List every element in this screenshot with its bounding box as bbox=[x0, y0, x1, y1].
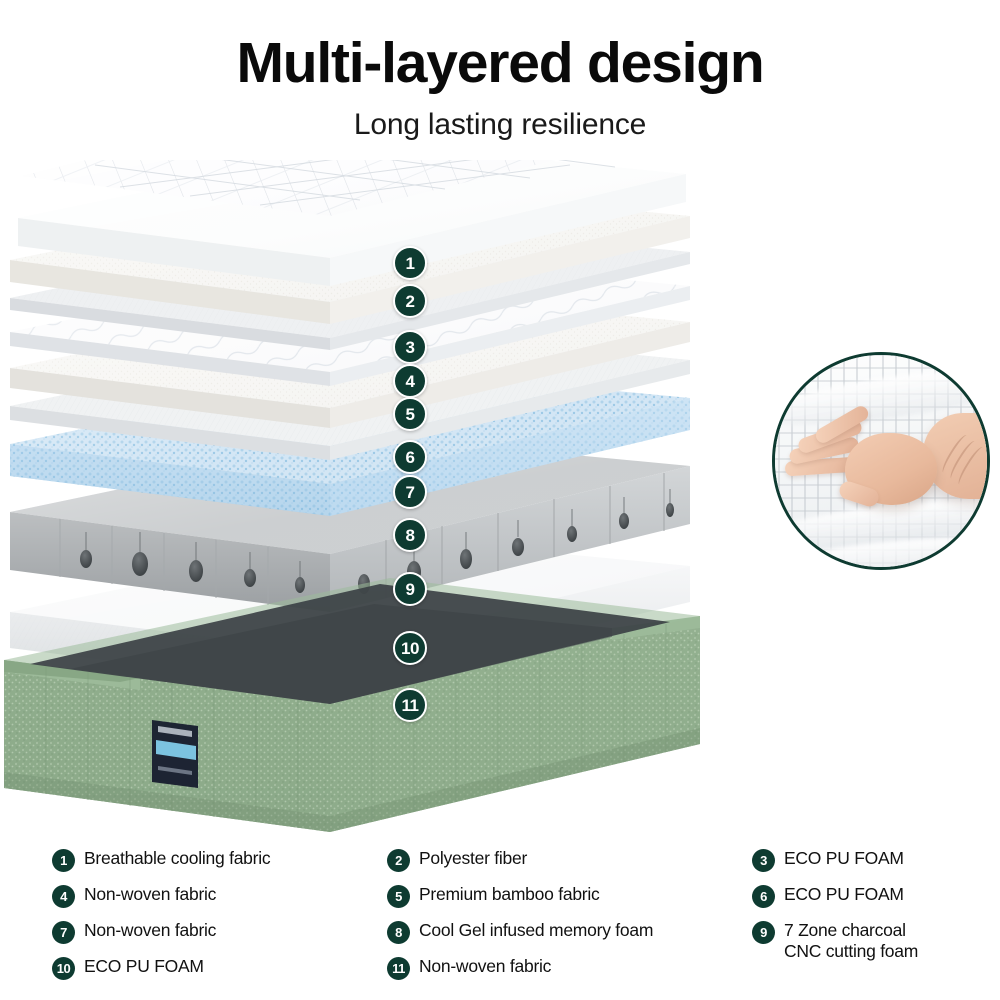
legend-column-3: 3 ECO PU FOAM 6 ECO PU FOAM 9 7 Zone cha… bbox=[752, 848, 972, 974]
legend-label-8: Cool Gel infused memory foam bbox=[419, 920, 653, 941]
product-infographic: Multi-layered design Long lasting resili… bbox=[0, 0, 1000, 1000]
legend-badge-3: 3 bbox=[752, 849, 775, 872]
inset-photo-hand-on-mattress bbox=[772, 352, 990, 570]
callout-badge-7[interactable]: 7 bbox=[393, 475, 427, 509]
legend-badge-2: 2 bbox=[387, 849, 410, 872]
legend-badge-8: 8 bbox=[387, 921, 410, 944]
legend-label-6: ECO PU FOAM bbox=[784, 884, 904, 905]
legend: 1 Breathable cooling fabric 4 Non-woven … bbox=[52, 848, 970, 988]
legend-label-5: Premium bamboo fabric bbox=[419, 884, 600, 905]
legend-label-4: Non-woven fabric bbox=[84, 884, 216, 905]
callout-badge-2[interactable]: 2 bbox=[393, 284, 427, 318]
legend-label-7: Non-woven fabric bbox=[84, 920, 216, 941]
legend-item-4[interactable]: 4 Non-woven fabric bbox=[52, 884, 382, 920]
callout-badge-10[interactable]: 10 bbox=[393, 631, 427, 665]
legend-column-1: 1 Breathable cooling fabric 4 Non-woven … bbox=[52, 848, 382, 992]
legend-column-2: 2 Polyester fiber 5 Premium bamboo fabri… bbox=[387, 848, 727, 992]
callout-badge-11[interactable]: 11 bbox=[393, 688, 427, 722]
legend-badge-5: 5 bbox=[387, 885, 410, 908]
legend-item-3[interactable]: 3 ECO PU FOAM bbox=[752, 848, 972, 884]
callout-badge-5[interactable]: 5 bbox=[393, 397, 427, 431]
legend-badge-10: 10 bbox=[52, 957, 75, 980]
legend-item-8[interactable]: 8 Cool Gel infused memory foam bbox=[387, 920, 727, 956]
legend-label-3: ECO PU FOAM bbox=[784, 848, 904, 869]
legend-label-2: Polyester fiber bbox=[419, 848, 527, 869]
page-subtitle: Long lasting resilience bbox=[0, 108, 1000, 142]
legend-item-7[interactable]: 7 Non-woven fabric bbox=[52, 920, 382, 956]
legend-item-6[interactable]: 6 ECO PU FOAM bbox=[752, 884, 972, 920]
legend-badge-1: 1 bbox=[52, 849, 75, 872]
callout-badge-3[interactable]: 3 bbox=[393, 330, 427, 364]
legend-item-2[interactable]: 2 Polyester fiber bbox=[387, 848, 727, 884]
legend-item-5[interactable]: 5 Premium bamboo fabric bbox=[387, 884, 727, 920]
legend-item-11[interactable]: 11 Non-woven fabric bbox=[387, 956, 727, 992]
legend-item-9[interactable]: 9 7 Zone charcoal CNC cutting foam bbox=[752, 920, 972, 974]
legend-label-9: 7 Zone charcoal CNC cutting foam bbox=[784, 920, 918, 961]
legend-badge-7: 7 bbox=[52, 921, 75, 944]
brand-label-tag bbox=[152, 720, 198, 788]
legend-label-1: Breathable cooling fabric bbox=[84, 848, 270, 869]
hand-graphic bbox=[783, 415, 983, 525]
callout-badge-6[interactable]: 6 bbox=[393, 440, 427, 474]
legend-label-10: ECO PU FOAM bbox=[84, 956, 204, 977]
legend-badge-9: 9 bbox=[752, 921, 775, 944]
callout-badge-1[interactable]: 1 bbox=[393, 246, 427, 280]
legend-badge-11: 11 bbox=[387, 957, 410, 980]
callout-badge-4[interactable]: 4 bbox=[393, 364, 427, 398]
legend-item-10[interactable]: 10 ECO PU FOAM bbox=[52, 956, 382, 992]
callout-badge-8[interactable]: 8 bbox=[393, 518, 427, 552]
legend-badge-4: 4 bbox=[52, 885, 75, 908]
page-title: Multi-layered design bbox=[0, 34, 1000, 92]
legend-badge-6: 6 bbox=[752, 885, 775, 908]
legend-label-11: Non-woven fabric bbox=[419, 956, 551, 977]
callout-badge-9[interactable]: 9 bbox=[393, 572, 427, 606]
legend-item-1[interactable]: 1 Breathable cooling fabric bbox=[52, 848, 382, 884]
